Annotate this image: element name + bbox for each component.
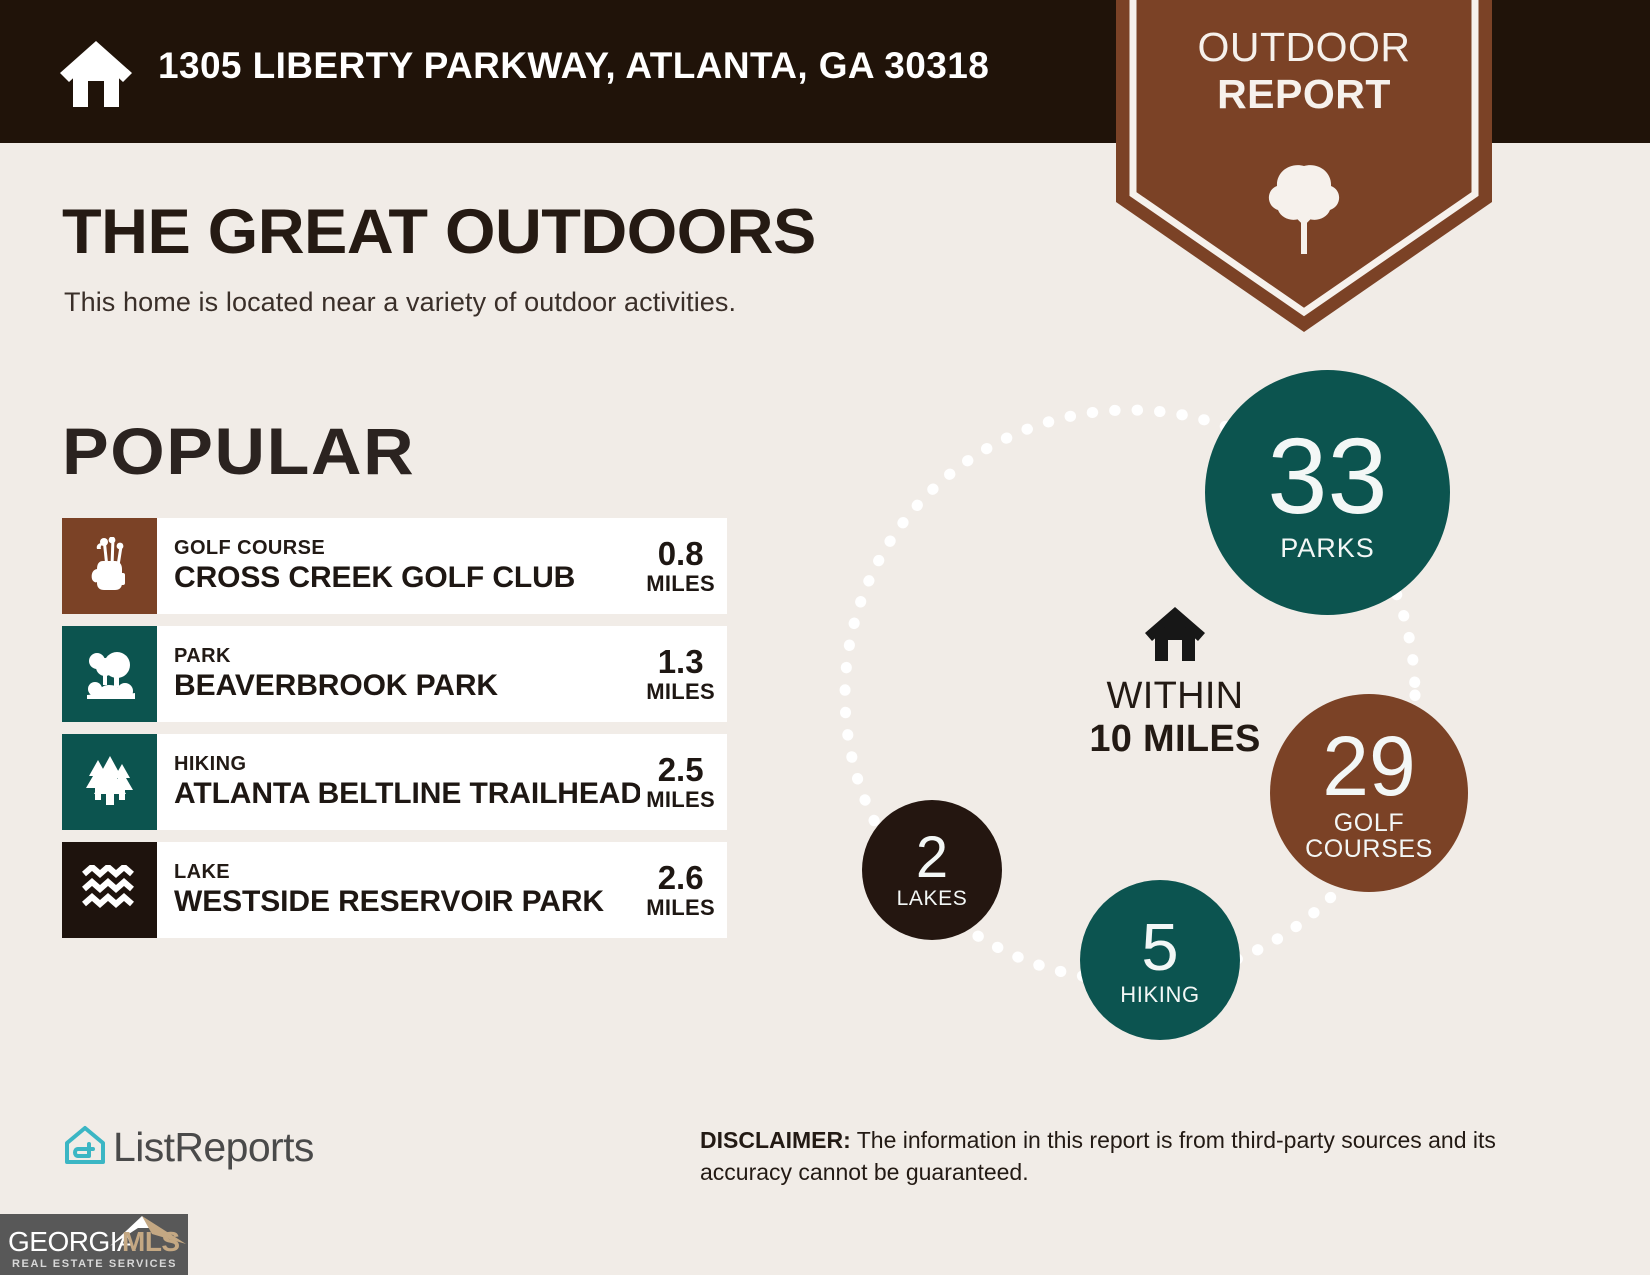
poi-icon-tile bbox=[62, 518, 157, 614]
poi-icon-tile bbox=[62, 734, 157, 830]
poi-distance: 2.5 MILES bbox=[640, 734, 727, 830]
stat-circle-lakes[interactable]: 2 LAKES bbox=[862, 800, 1002, 940]
stat-label-golf-courses: GOLF COURSES bbox=[1305, 810, 1433, 863]
popular-heading: POPULAR bbox=[62, 413, 415, 489]
poi-distance-unit: MILES bbox=[646, 571, 715, 597]
stat-label-golf-line-1: GOLF bbox=[1334, 809, 1404, 837]
outdoor-report-page: 1305 LIBERTY PARKWAY, ATLANTA, GA 30318 … bbox=[0, 0, 1650, 1275]
poi-distance-value: 2.6 bbox=[658, 860, 704, 895]
poi-name: WESTSIDE RESERVOIR PARK bbox=[174, 884, 640, 920]
poi-name: BEAVERBROOK PARK bbox=[174, 668, 640, 704]
poi-distance-unit: MILES bbox=[646, 787, 715, 813]
stat-value-golf-courses: 29 bbox=[1322, 724, 1415, 808]
listreports-house-icon bbox=[62, 1122, 108, 1173]
stat-label-hiking: HIKING bbox=[1120, 983, 1199, 1006]
disclaimer-label: DISCLAIMER: bbox=[700, 1127, 851, 1153]
poi-distance: 2.6 MILES bbox=[640, 842, 727, 938]
stat-circle-golf-courses[interactable]: 29 GOLF COURSES bbox=[1270, 694, 1468, 892]
poi-category: PARK bbox=[174, 645, 640, 668]
list-item[interactable]: GOLF COURSE CROSS CREEK GOLF CLUB 0.8 MI… bbox=[62, 518, 727, 614]
poi-icon-tile bbox=[62, 842, 157, 938]
ring-center-label: WITHIN 10 MILES bbox=[1025, 605, 1325, 761]
poi-text: LAKE WESTSIDE RESERVOIR PARK bbox=[157, 842, 640, 938]
listreports-wordmark: ListReports bbox=[113, 1124, 314, 1171]
poi-text: HIKING ATLANTA BELTLINE TRAILHEAD bbox=[157, 734, 640, 830]
list-item[interactable]: HIKING ATLANTA BELTLINE TRAILHEAD 2.5 MI… bbox=[62, 734, 727, 830]
poi-category: LAKE bbox=[174, 861, 640, 884]
georgia-mls-watermark: GEORGIA MLS REAL ESTATE SERVICES bbox=[0, 1214, 188, 1275]
page-title: THE GREAT OUTDOORS bbox=[62, 196, 816, 268]
within-10-miles-ring: WITHIN 10 MILES 33 PARKS 29 GOLF COURSES… bbox=[820, 355, 1500, 1045]
list-item[interactable]: PARK BEAVERBROOK PARK 1.3 MILES bbox=[62, 626, 727, 722]
poi-distance: 0.8 MILES bbox=[640, 518, 727, 614]
stat-circle-hiking[interactable]: 5 HIKING bbox=[1080, 880, 1240, 1040]
waves-icon bbox=[81, 865, 139, 916]
badge-line-1: OUTDOOR bbox=[1116, 24, 1492, 71]
poi-distance: 1.3 MILES bbox=[640, 626, 727, 722]
poi-name: ATLANTA BELTLINE TRAILHEAD bbox=[174, 776, 640, 812]
poi-text: GOLF COURSE CROSS CREEK GOLF CLUB bbox=[157, 518, 640, 614]
poi-distance-value: 0.8 bbox=[658, 536, 704, 571]
poi-distance-value: 1.3 bbox=[658, 644, 704, 679]
golf-bag-icon bbox=[85, 537, 135, 596]
stat-value-parks: 33 bbox=[1267, 422, 1387, 530]
mls-tagline: REAL ESTATE SERVICES bbox=[12, 1258, 177, 1270]
pine-trees-icon bbox=[83, 754, 137, 811]
poi-icon-tile bbox=[62, 626, 157, 722]
poi-category: HIKING bbox=[174, 753, 640, 776]
poi-distance-unit: MILES bbox=[646, 679, 715, 705]
poi-text: PARK BEAVERBROOK PARK bbox=[157, 626, 640, 722]
badge-line-2: REPORT bbox=[1116, 71, 1492, 118]
stat-value-hiking: 5 bbox=[1141, 914, 1178, 981]
stat-label-parks: PARKS bbox=[1280, 534, 1375, 562]
popular-list: GOLF COURSE CROSS CREEK GOLF CLUB 0.8 MI… bbox=[62, 518, 727, 950]
park-trees-icon bbox=[83, 645, 137, 704]
badge-label: OUTDOOR REPORT bbox=[1116, 24, 1492, 118]
home-icon bbox=[1025, 605, 1325, 668]
mls-name-part2: MLS bbox=[122, 1226, 180, 1258]
stat-label-lakes: LAKES bbox=[897, 888, 968, 910]
outdoor-report-badge: OUTDOOR REPORT bbox=[1116, 0, 1492, 332]
property-address: 1305 LIBERTY PARKWAY, ATLANTA, GA 30318 bbox=[158, 45, 989, 87]
home-icon bbox=[57, 33, 135, 111]
listreports-logo[interactable]: ListReports bbox=[62, 1122, 314, 1173]
stat-label-golf-line-2: COURSES bbox=[1305, 835, 1433, 863]
poi-distance-unit: MILES bbox=[646, 895, 715, 921]
poi-name: CROSS CREEK GOLF CLUB bbox=[174, 560, 640, 596]
stat-circle-parks[interactable]: 33 PARKS bbox=[1205, 370, 1450, 615]
poi-distance-value: 2.5 bbox=[658, 752, 704, 787]
disclaimer: DISCLAIMER: The information in this repo… bbox=[700, 1124, 1510, 1188]
mls-name-part1: GEORGIA bbox=[8, 1226, 135, 1258]
page-subtitle: This home is located near a variety of o… bbox=[64, 287, 736, 318]
poi-category: GOLF COURSE bbox=[174, 537, 640, 560]
list-item[interactable]: LAKE WESTSIDE RESERVOIR PARK 2.6 MILES bbox=[62, 842, 727, 938]
stat-value-lakes: 2 bbox=[916, 829, 948, 887]
ring-center-line-1: WITHIN bbox=[1025, 675, 1325, 717]
